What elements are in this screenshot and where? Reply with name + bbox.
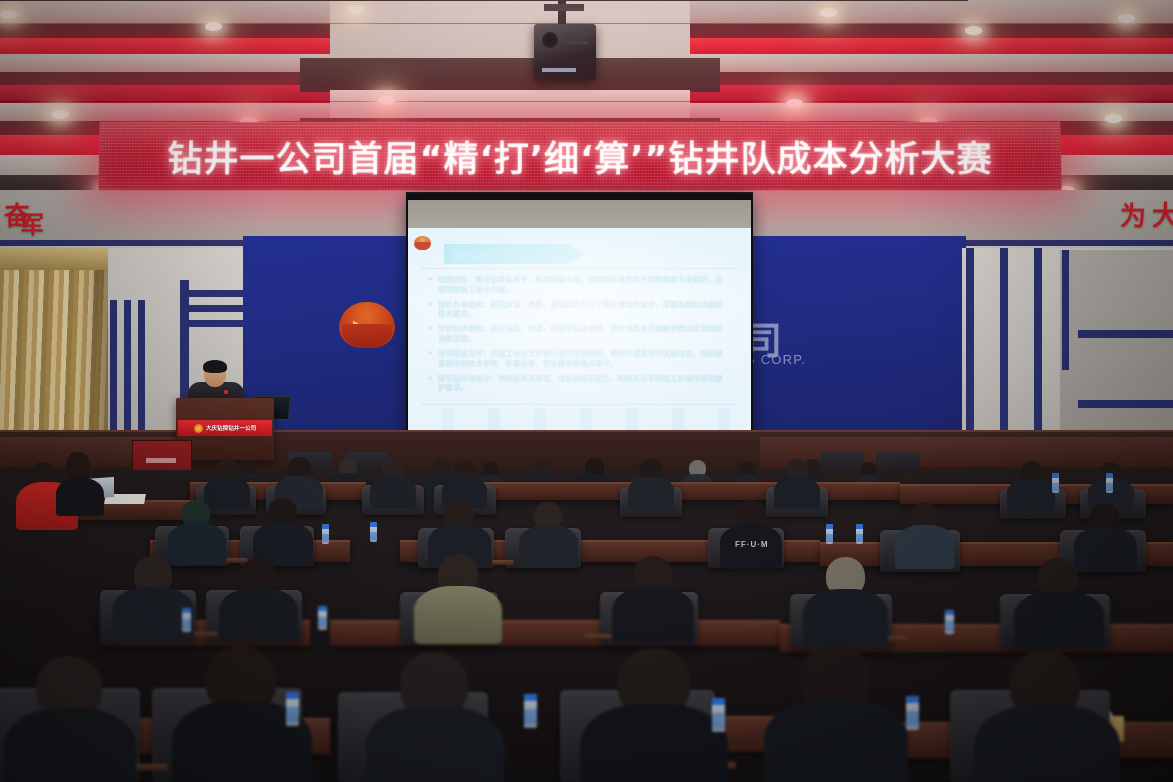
wall-stripe: [1000, 248, 1008, 448]
wall-stripe: [180, 320, 244, 327]
water-bottle: [945, 610, 954, 634]
wall-stripe: [180, 305, 244, 312]
water-bottle: [1106, 473, 1113, 493]
projector-lens: [542, 32, 558, 48]
wall-character-right-2: 大: [1152, 194, 1173, 233]
water-bottle: [322, 524, 329, 544]
ceiling-downlight: [0, 10, 17, 19]
ceiling-downlight: [965, 26, 982, 35]
ceiling-downlight: [347, 5, 364, 14]
water-bottle: [856, 524, 863, 544]
jacket-print-text: FF·U·M: [735, 540, 769, 549]
slide-title: 研读钻井施工设计: [452, 247, 532, 262]
ceiling-downlight: [786, 99, 803, 108]
slide-title-banner: 研读钻井施工设计: [444, 244, 584, 264]
water-bottle: [370, 522, 377, 542]
water-bottle: [286, 692, 299, 726]
wall-stripe: [1062, 250, 1069, 370]
curtain-valance: [0, 248, 108, 270]
water-bottle: [712, 698, 725, 732]
ceiling-projector: [534, 0, 596, 84]
wall-stripe: [966, 248, 974, 448]
water-bottle: [524, 694, 537, 728]
wall-panel-right-far: [1060, 250, 1173, 448]
wall-stripe: [1078, 330, 1173, 338]
seat-armrest: [190, 632, 218, 637]
seat-armrest: [584, 634, 612, 639]
eyeglasses: [205, 371, 225, 377]
wall-stripe: [124, 300, 131, 448]
wall-stripe: [138, 300, 145, 448]
podium-sign: 大庆钻探钻井一公司: [178, 420, 272, 436]
water-bottle: [1052, 473, 1059, 493]
stage-curtain: [0, 248, 108, 453]
slide-cnpc-logo: [414, 234, 431, 250]
wall-character-left-2: 军: [20, 205, 44, 240]
led-banner: 钻井一公司首届“精‘打’细‘算’”钻井队成本分析大赛: [98, 122, 1061, 190]
water-bottle: [182, 608, 191, 632]
water-bottle: [826, 524, 833, 544]
slide-divider: [422, 404, 738, 406]
slide-bullet: 研究钻井液设计：熟悉钻井液类型、性能指标及配方，明确其在不同施工阶段作用和维护要…: [428, 374, 728, 393]
cnpc-logo: [339, 296, 395, 348]
ceiling-downlight: [205, 22, 222, 31]
presentation-slide: 研读钻井施工设计 组建团队：集合钻井队骨干，形成研读小组，利用团队成员的不同视角…: [408, 228, 751, 436]
blue-backdrop-right: 司 NG CORP.: [716, 236, 966, 458]
podium-sign-text: 大庆钻探钻井一公司: [206, 424, 256, 432]
banner-text: 钻井一公司首届“精‘打’细‘算’”钻井队成本分析大赛: [167, 131, 993, 182]
audience-row-front: [0, 640, 1173, 782]
slide-bullet: 逐页精读文件：对施工设计文件进行逐页仔细阅读，确保不遗漏任何关键信息，特别留意其…: [428, 349, 728, 368]
podium-logo-icon: [194, 424, 203, 433]
wall-stripe: [1078, 400, 1173, 408]
wall-stripe: [1034, 248, 1042, 448]
ceiling-downlight: [52, 110, 69, 119]
wall-stripe: [110, 300, 117, 448]
ceiling-downlight: [378, 96, 395, 105]
slide-divider: [422, 268, 738, 270]
ceiling-downlight: [820, 8, 837, 17]
slide-bullet-list: 组建团队：集合钻井队骨干，形成研读小组，利用团队成员的不同视角和专业知识，全面理…: [428, 275, 728, 398]
wall-character-right-1: 为: [1120, 196, 1146, 233]
slide-bullet: 剖析井身结构：研究井深、井径、套管层次及尺寸等井身结构设计，掌握各部分功能和技术…: [428, 300, 728, 319]
slide-bullet: 分析钻井参数：关注钻压、转速、排量等钻井参数，结合地质条件理解参数设定目的和调整…: [428, 324, 728, 343]
slide-bullet: 组建团队：集合钻井队骨干，形成研读小组，利用团队成员的不同视角和专业知识，全面理…: [428, 275, 728, 294]
water-bottle: [906, 696, 919, 730]
banner-frame: [0, 0, 968, 1]
lapel-pin: [224, 390, 228, 394]
ceiling-downlight: [1118, 14, 1135, 23]
water-bottle: [318, 606, 327, 630]
seat-armrest: [132, 764, 168, 771]
ceiling-downlight: [1105, 114, 1122, 123]
conference-hall-photo: 奋 军 为 大 钻井一公司首届“精‘打’细‘算’”钻井队成本分析大赛 司 NG …: [0, 0, 1173, 782]
audience-row: [0, 560, 1173, 650]
wall-stripe: [180, 290, 244, 297]
